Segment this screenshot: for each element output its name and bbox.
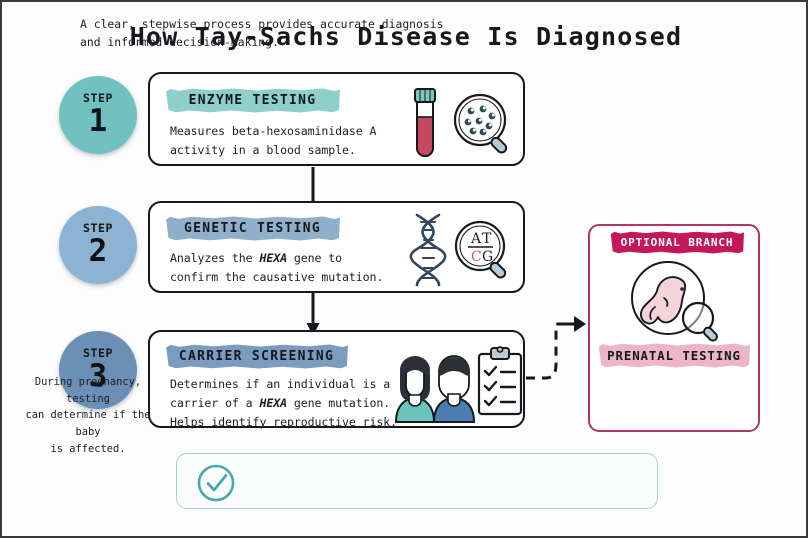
fetus-magnifier-icon	[620, 260, 730, 342]
step-body-2: Analyzes the HEXA gene to confirm the ca…	[170, 249, 430, 287]
couple-icon	[388, 350, 484, 422]
step-badge-number-2: 2	[89, 236, 108, 267]
summary-card	[176, 453, 658, 509]
summary-text: A clear, stepwise process provides accur…	[80, 15, 472, 52]
step-badge-1: STEP 1	[59, 76, 137, 154]
step-heading-2: GENETIC TESTING	[165, 216, 340, 241]
step-badge-number-1: 1	[89, 106, 108, 137]
step-badge-2: STEP 2	[59, 206, 137, 284]
magnifier-cells-icon	[452, 92, 518, 158]
step-card-2[interactable]: GENETIC TESTING Analyzes the HEXA gene t…	[148, 201, 525, 293]
step-card-3[interactable]: CARRIER SCREENING Determines if an indiv…	[148, 330, 525, 428]
check-circle-icon	[196, 463, 236, 503]
blood-vial-icon	[404, 86, 446, 162]
svg-text:T: T	[482, 231, 492, 247]
prenatal-body: During pregnancy, testing can determine …	[10, 374, 166, 457]
step-heading-1: ENZYME TESTING	[165, 88, 340, 113]
clipboard-checklist-icon	[475, 346, 525, 418]
step-body-1: Measures beta-hexosaminidase A activity …	[170, 122, 420, 160]
svg-text:A: A	[470, 231, 482, 247]
dna-helix-icon	[406, 212, 452, 288]
prenatal-heading: PRENATAL TESTING	[598, 343, 750, 368]
svg-text:G: G	[482, 249, 493, 265]
infographic-canvas: How Tay-Sachs Disease Is Diagnosed STEP …	[0, 0, 808, 538]
optional-branch-badge: OPTIONAL BRANCH	[610, 231, 744, 254]
svg-text:C: C	[471, 249, 482, 265]
magnifier-atcg-icon: A T C G	[452, 219, 518, 283]
step-card-1[interactable]: ENZYME TESTING Measures beta-hexosaminid…	[148, 72, 525, 166]
branch-connector-arrow	[524, 302, 594, 384]
step-heading-3: CARRIER SCREENING	[165, 344, 348, 369]
